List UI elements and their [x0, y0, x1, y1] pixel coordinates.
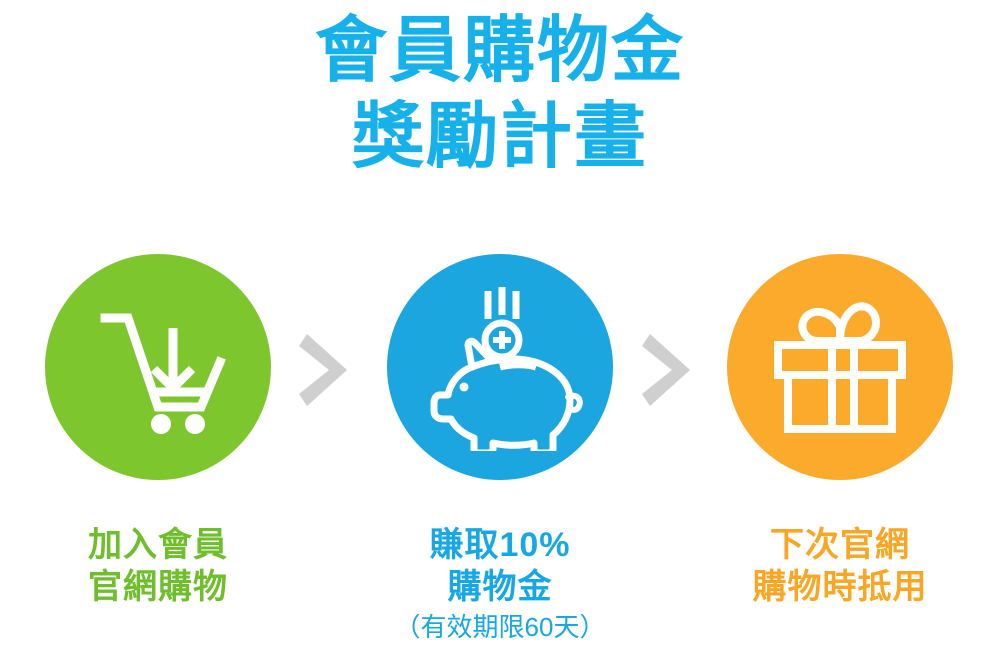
shopping-cart-download-icon — [83, 292, 233, 442]
caption-step-2-line-2: 購物金 — [330, 566, 670, 608]
caption-step-3: 下次官網 購物時抵用 — [670, 524, 1000, 608]
caption-step-3-line-1: 下次官網 — [670, 524, 1000, 566]
caption-step-2-line-1: 賺取10% — [330, 524, 670, 566]
page-title-line-1: 會員購物金 — [0, 8, 1000, 94]
chevron-right-icon-2 — [640, 332, 698, 408]
piggy-bank-coin-icon — [416, 283, 584, 451]
chevron-right-icon-1 — [297, 332, 355, 408]
page-title: 會員購物金 獎勵計畫 — [0, 8, 1000, 180]
caption-step-2: 賺取10% 購物金 （有效期限60天） — [330, 524, 670, 646]
captions-row: 加入會員 官網購物 賺取10% 購物金 （有效期限60天） 下次官網 購物時抵用 — [0, 524, 1000, 664]
infographic-page: 會員購物金 獎勵計畫 — [0, 0, 1000, 668]
step-circle-redeem-gift — [727, 254, 953, 480]
caption-step-1-line-2: 官網購物 — [0, 566, 328, 608]
caption-step-1-line-1: 加入會員 — [0, 524, 328, 566]
gift-box-icon — [764, 291, 916, 443]
page-title-line-2: 獎勵計畫 — [0, 94, 1000, 180]
caption-step-2-note: （有效期限60天） — [330, 608, 670, 646]
step-circle-earn-credit — [387, 254, 613, 480]
caption-step-1: 加入會員 官網購物 — [0, 524, 328, 608]
caption-step-3-line-2: 購物時抵用 — [670, 566, 1000, 608]
step-circle-join-member — [45, 254, 271, 480]
steps-row — [0, 254, 1000, 484]
